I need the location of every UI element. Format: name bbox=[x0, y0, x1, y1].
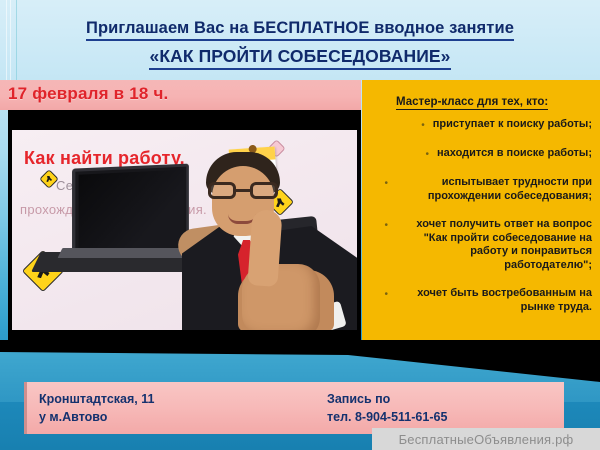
address-line-1: Кронштадтская, 11 bbox=[39, 390, 154, 408]
poster-headline: Приглашаем Вас на БЕСПЛАТНОЕ вводное зан… bbox=[0, 18, 600, 70]
address-line-2: у м.Автово bbox=[39, 408, 154, 426]
bullet-icon: • bbox=[384, 177, 388, 190]
phone-number: тел. 8-904-511-61-65 bbox=[327, 408, 447, 426]
list-item: • хочет получить ответ на вопрос "Как пр… bbox=[370, 218, 592, 272]
list-item: • приступает к поиску работы; bbox=[370, 118, 592, 132]
date-banner: 17 февраля в 18 ч. bbox=[0, 80, 361, 110]
watermark-label: БесплатныеОбъявления.рф bbox=[399, 432, 574, 447]
list-item: • находится в поиске работы; bbox=[370, 147, 592, 161]
list-item-label: находится в поиске работы; bbox=[437, 147, 592, 161]
address-block: Кронштадтская, 11 у м.Автово bbox=[39, 390, 154, 426]
list-item: • хочет быть востребованным на рынке тру… bbox=[370, 287, 592, 314]
bullet-icon: • bbox=[421, 119, 425, 132]
headline-line-2: «КАК ПРОЙТИ СОБЕСЕДОВАНИЕ» bbox=[149, 46, 450, 70]
list-item: • испытывает трудности при прохождении с… bbox=[370, 176, 592, 203]
list-item-label: приступает к поиску работы; bbox=[433, 118, 592, 132]
signup-block: Запись по тел. 8-904-511-61-65 bbox=[327, 390, 447, 426]
poster-canvas: Приглашаем Вас на БЕСПЛАТНОЕ вводное зан… bbox=[0, 0, 600, 450]
lens-right bbox=[250, 182, 278, 199]
photo-frame: Как найти работу. Секреты успешного прох… bbox=[8, 110, 361, 352]
list-item-label: хочет получить ответ на вопрос "Как прой… bbox=[396, 218, 592, 272]
signup-line-1: Запись по bbox=[327, 390, 447, 408]
thumbs-up-icon bbox=[247, 209, 282, 287]
panel-bullet-list: • приступает к поиску работы; • находитс… bbox=[370, 118, 592, 314]
lens-left bbox=[208, 182, 236, 199]
headline-line-1: Приглашаем Вас на БЕСПЛАТНОЕ вводное зан… bbox=[86, 18, 514, 41]
promo-photo: Как найти работу. Секреты успешного прох… bbox=[12, 130, 357, 330]
date-text: 17 февраля в 18 ч. bbox=[8, 84, 168, 104]
eyeglasses-icon bbox=[208, 182, 278, 199]
watermark: БесплатныеОбъявления.рф bbox=[372, 428, 600, 450]
bullet-icon: • bbox=[425, 148, 429, 161]
contact-box: Кронштадтская, 11 у м.Автово Запись по т… bbox=[24, 382, 564, 434]
bridge bbox=[236, 189, 250, 192]
bullet-icon: • bbox=[384, 219, 388, 232]
businessman-figure bbox=[182, 152, 357, 330]
list-item-label: хочет быть востребованным на рынке труда… bbox=[396, 287, 592, 314]
master-class-panel: Мастер-класс для тех, кто: • приступает … bbox=[362, 80, 600, 352]
list-item-label: испытывает трудности при прохождении соб… bbox=[396, 176, 592, 203]
bullet-icon: • bbox=[384, 288, 388, 301]
panel-title: Мастер-класс для тех, кто: bbox=[396, 96, 548, 110]
